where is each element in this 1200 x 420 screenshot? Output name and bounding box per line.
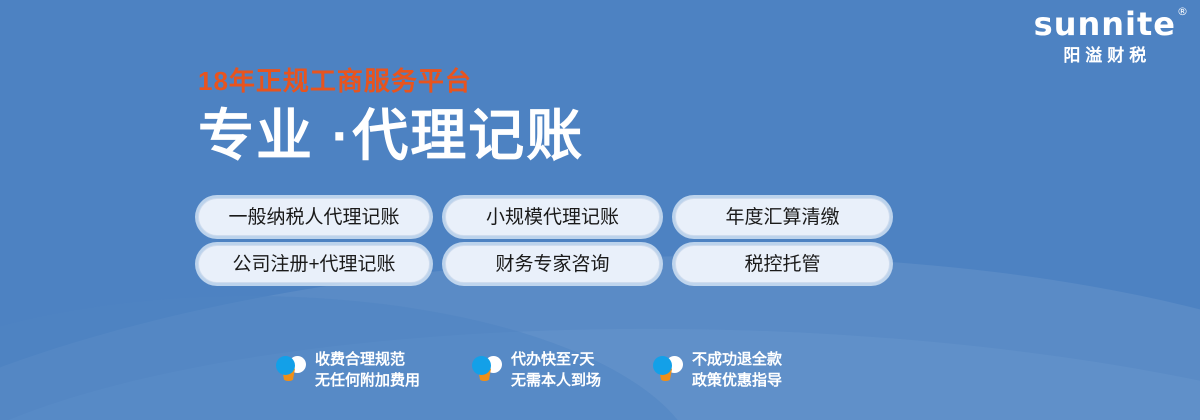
service-pill-company-registration[interactable]: 公司注册+代理记账 bbox=[198, 245, 430, 283]
feature-item-pricing: 收费合理规范 无任何附加费用 bbox=[276, 349, 420, 392]
feature-line-1: 代办快至7天 bbox=[511, 351, 594, 368]
service-pill-tax-control-hosting[interactable]: 税控托管 bbox=[675, 245, 890, 283]
feature-line-1: 不成功退全款 bbox=[692, 351, 782, 368]
feature-text-pricing: 收费合理规范 无任何附加费用 bbox=[315, 349, 420, 392]
feature-strip: 收费合理规范 无任何附加费用 代办快至7天 无需本人到场 不成功退全款 bbox=[276, 349, 782, 392]
coin-cup-icon bbox=[276, 354, 306, 386]
feature-item-guarantee: 不成功退全款 政策优惠指导 bbox=[653, 349, 782, 392]
feature-text-speed: 代办快至7天 无需本人到场 bbox=[511, 349, 601, 392]
coin-cup-icon bbox=[472, 354, 502, 386]
eyebrow-text: 18年正规工商服务平台 bbox=[198, 68, 584, 94]
service-pill-row-2: 公司注册+代理记账 财务专家咨询 税控托管 bbox=[198, 245, 890, 283]
service-pill-general-taxpayer[interactable]: 一般纳税人代理记账 bbox=[198, 198, 430, 236]
logo-chinese-name: 阳溢财税 bbox=[1034, 47, 1176, 64]
registered-trademark-icon: ® bbox=[1177, 6, 1189, 17]
service-pill-finance-consulting[interactable]: 财务专家咨询 bbox=[445, 245, 660, 283]
feature-line-2: 无需本人到场 bbox=[511, 372, 601, 389]
feature-line-2: 政策优惠指导 bbox=[692, 372, 782, 389]
promo-banner: sunnite ® 阳溢财税 18年正规工商服务平台 专业 ·代理记账 一般纳税… bbox=[0, 0, 1200, 420]
service-pill-grid: 一般纳税人代理记账 小规模代理记账 年度汇算清缴 公司注册+代理记账 财务专家咨… bbox=[198, 198, 890, 292]
service-pill-small-scale[interactable]: 小规模代理记账 bbox=[445, 198, 660, 236]
headline-block: 18年正规工商服务平台 专业 ·代理记账 bbox=[198, 68, 584, 164]
feature-text-guarantee: 不成功退全款 政策优惠指导 bbox=[692, 349, 782, 392]
coin-cup-icon bbox=[653, 354, 683, 386]
feature-item-speed: 代办快至7天 无需本人到场 bbox=[472, 349, 601, 392]
brand-logo: sunnite ® 阳溢财税 bbox=[1034, 8, 1176, 64]
logo-wordmark: sunnite ® bbox=[1034, 8, 1176, 40]
page-title: 专业 ·代理记账 bbox=[198, 108, 584, 164]
feature-line-2: 无任何附加费用 bbox=[315, 372, 420, 389]
logo-wordmark-text: sunnite bbox=[1034, 5, 1176, 43]
service-pill-row-1: 一般纳税人代理记账 小规模代理记账 年度汇算清缴 bbox=[198, 198, 890, 236]
feature-line-1: 收费合理规范 bbox=[315, 351, 405, 368]
service-pill-annual-settlement[interactable]: 年度汇算清缴 bbox=[675, 198, 890, 236]
